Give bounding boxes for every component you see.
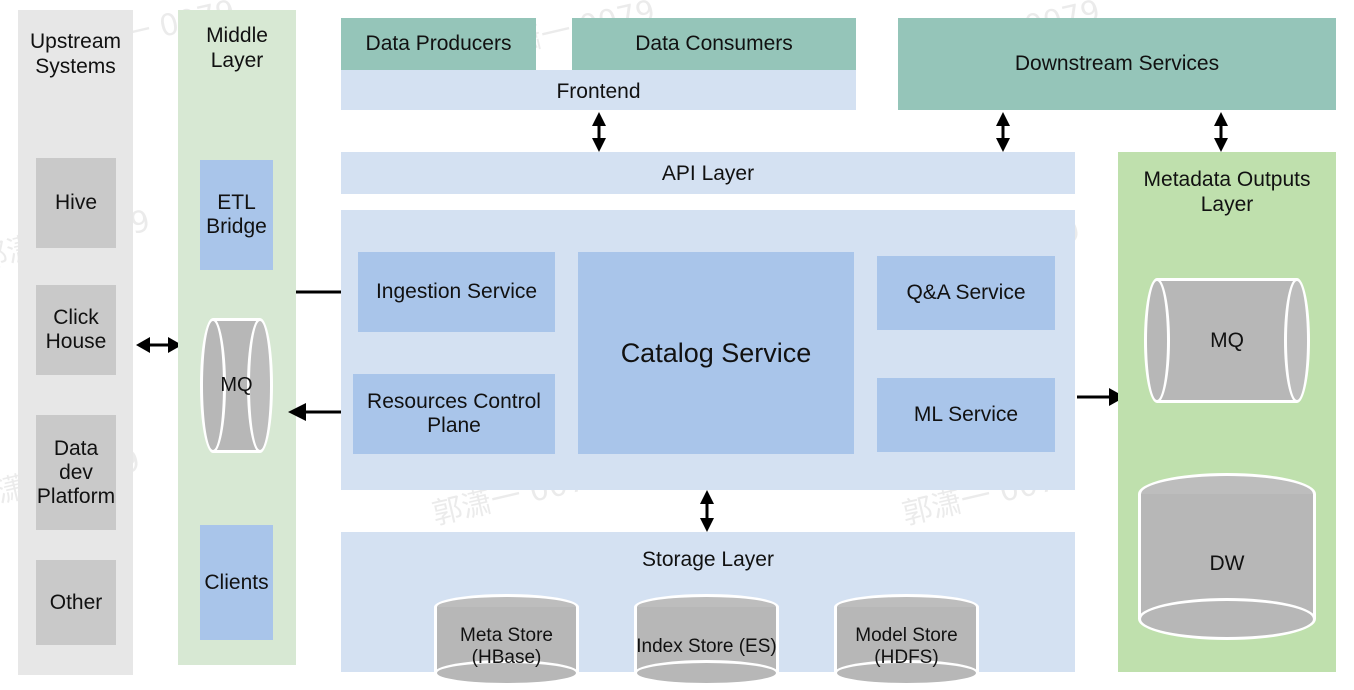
metadata-outputs-title: Metadata Outputs Layer [1118,168,1336,218]
upstream-item-other[interactable]: Other [36,560,116,645]
middle-layer-item-etl-bridge[interactable]: ETL Bridge [200,160,273,270]
middle-layer-title: Middle Layer [178,24,296,74]
architecture-diagram: 郭潇一 0079 郭潇一 0079 郭潇一 0079 郭潇一 0079 郭潇一 … [0,0,1354,690]
middle-layer-mq-label: MQ [200,318,273,453]
arrow-downstream-to-api [990,112,1016,152]
storage-layer-title: Storage Layer [341,548,1075,573]
upstream-item-data-dev-platform[interactable]: Data dev Platform [36,415,116,530]
upstream-item-hive[interactable]: Hive [36,158,116,248]
middle-layer-item-clients[interactable]: Clients [200,525,273,640]
service-ml[interactable]: ML Service [877,378,1055,452]
service-qa[interactable]: Q&A Service [877,256,1055,330]
frontend-label: Frontend [341,80,856,105]
metadata-output-mq-label: MQ [1144,278,1310,403]
upstream-systems-title: Upstream Systems [18,30,133,80]
actor-data-producers[interactable]: Data Producers [341,18,536,70]
store-meta-label: Meta Store (HBase) [434,594,579,686]
service-catalog[interactable]: Catalog Service [578,252,854,454]
store-index-label: Index Store (ES) [634,594,779,686]
arrow-core-storage [694,490,720,532]
arrow-upstream-middle [136,330,182,360]
metadata-output-mq[interactable]: MQ [1144,278,1310,403]
service-ingestion[interactable]: Ingestion Service [358,252,555,332]
upstream-item-clickhouse[interactable]: Click House [36,285,116,375]
arrow-downstream-to-metadata-outputs [1208,112,1234,152]
downstream-services[interactable]: Downstream Services [898,18,1336,110]
api-layer-label: API Layer [341,162,1075,187]
store-meta-hbase[interactable]: Meta Store (HBase) [434,594,579,686]
metadata-output-dw-label: DW [1138,473,1316,640]
actor-data-consumers[interactable]: Data Consumers [572,18,856,70]
middle-layer-item-mq[interactable]: MQ [200,318,273,453]
store-index-es[interactable]: Index Store (ES) [634,594,779,686]
store-model-hdfs[interactable]: Model Store (HDFS) [834,594,979,686]
service-resources-control-plane[interactable]: Resources Control Plane [353,374,555,454]
store-model-label: Model Store (HDFS) [834,594,979,686]
metadata-output-dw[interactable]: DW [1138,473,1316,640]
arrow-frontend-api [586,112,612,152]
